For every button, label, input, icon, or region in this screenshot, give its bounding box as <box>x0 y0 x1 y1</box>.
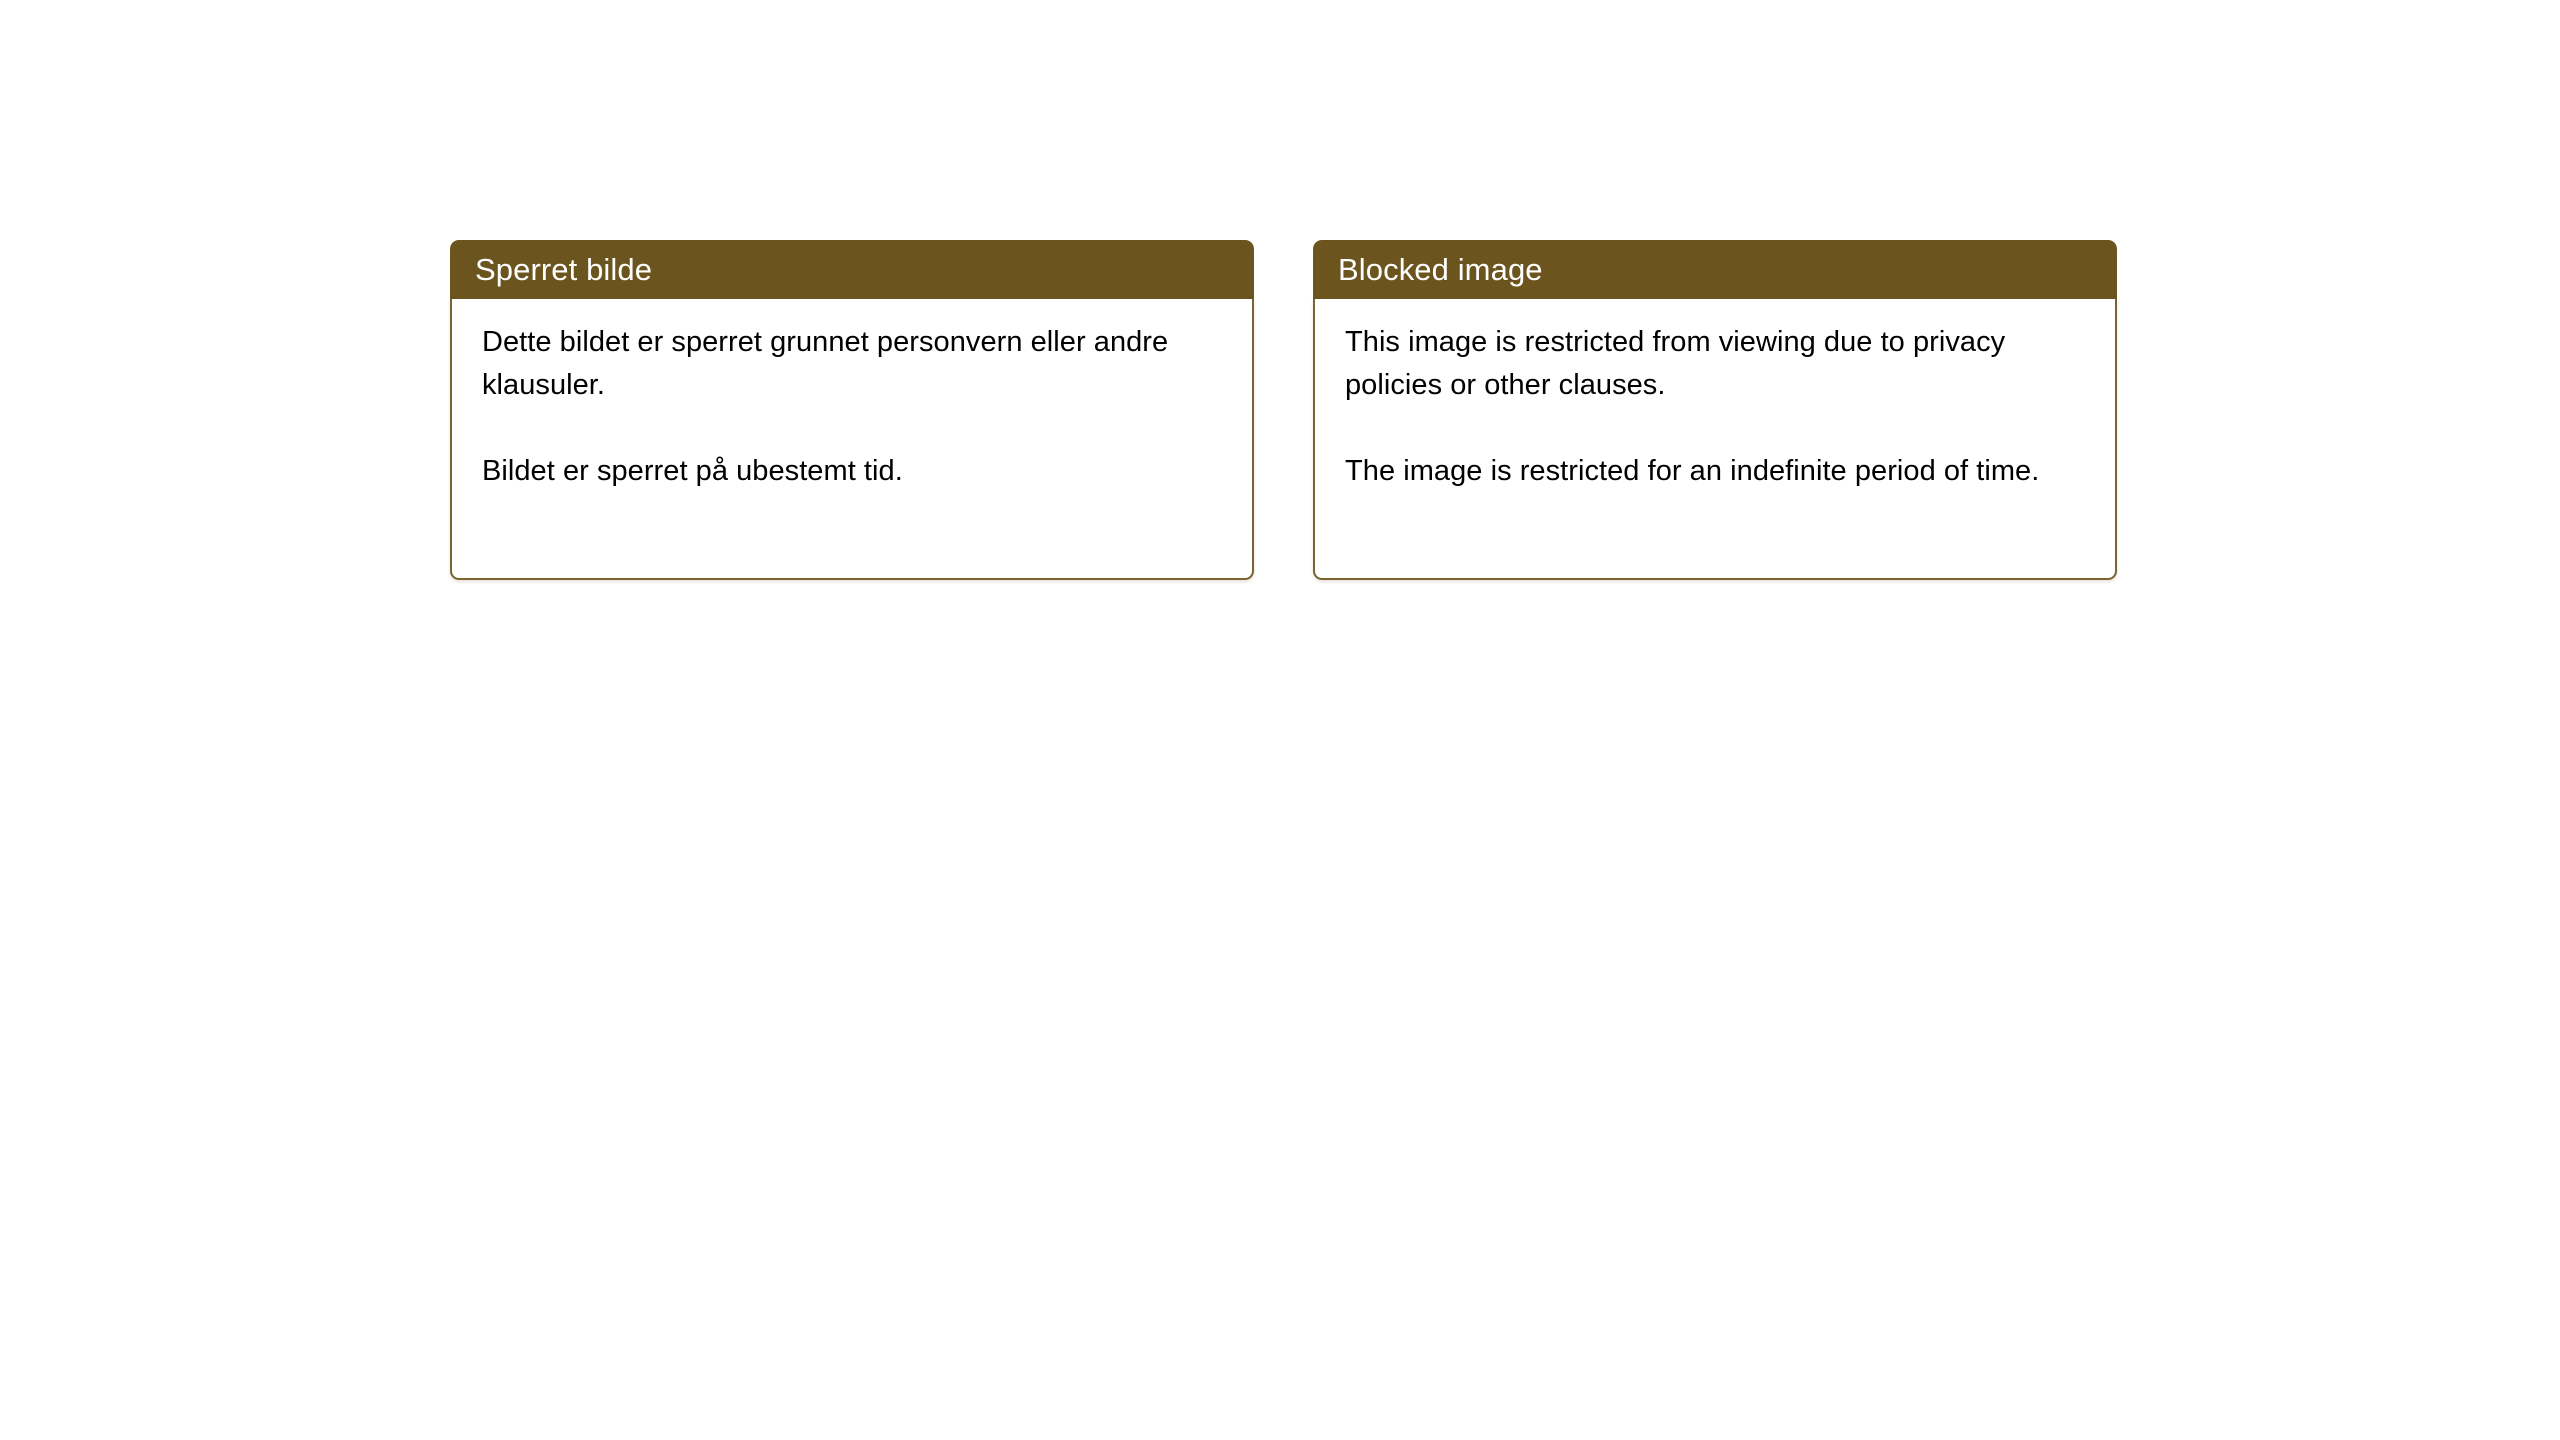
card-header-english: Blocked image <box>1313 240 2117 299</box>
card-body-norwegian: Dette bildet er sperret grunnet personve… <box>450 299 1254 580</box>
card-paragraph-reason-english: This image is restricted from viewing du… <box>1345 321 2087 407</box>
page-canvas: Sperret bilde Dette bildet er sperret gr… <box>0 0 2560 1440</box>
paragraph-spacer <box>1345 407 2087 450</box>
blocked-image-notice-card-norwegian: Sperret bilde Dette bildet er sperret gr… <box>450 240 1254 580</box>
card-paragraph-duration-english: The image is restricted for an indefinit… <box>1345 450 2087 493</box>
paragraph-spacer <box>482 407 1224 450</box>
card-body-english: This image is restricted from viewing du… <box>1313 299 2117 580</box>
blocked-image-notice-card-english: Blocked image This image is restricted f… <box>1313 240 2117 580</box>
card-header-norwegian: Sperret bilde <box>450 240 1254 299</box>
card-paragraph-duration-norwegian: Bildet er sperret på ubestemt tid. <box>482 450 1224 493</box>
card-title-norwegian: Sperret bilde <box>475 253 652 287</box>
card-title-english: Blocked image <box>1338 253 1543 287</box>
card-paragraph-reason-norwegian: Dette bildet er sperret grunnet personve… <box>482 321 1224 407</box>
